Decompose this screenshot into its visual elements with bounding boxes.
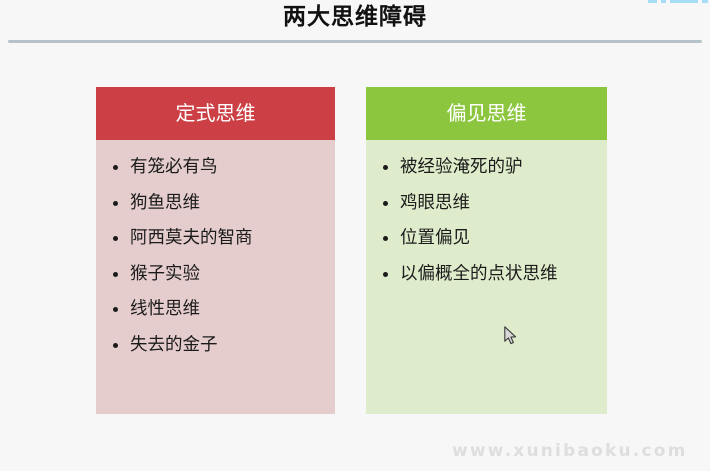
list-item: 猴子实验 bbox=[110, 261, 325, 288]
site-watermark: www.xunibaoku.com bbox=[452, 441, 688, 461]
list-item: 失去的金子 bbox=[110, 332, 325, 359]
list-item: 以偏概全的点状思维 bbox=[380, 261, 597, 288]
title-divider bbox=[8, 40, 702, 43]
list-item: 位置偏见 bbox=[380, 225, 597, 252]
page-title: 两大思维障碍 bbox=[0, 0, 710, 38]
card-header-bias-mindset: 偏见思维 bbox=[366, 87, 607, 140]
bullet-list-bias-mindset: 被经验淹死的驴 鸡眼思维 位置偏见 以偏概全的点状思维 bbox=[380, 154, 597, 287]
card-header-fixed-mindset: 定式思维 bbox=[96, 87, 335, 140]
list-item: 被经验淹死的驴 bbox=[380, 154, 597, 181]
list-item: 阿西莫夫的智商 bbox=[110, 225, 325, 252]
list-item: 鸡眼思维 bbox=[380, 190, 597, 217]
list-item: 线性思维 bbox=[110, 296, 325, 323]
list-item: 狗鱼思维 bbox=[110, 190, 325, 217]
card-fixed-mindset: 定式思维 有笼必有鸟 狗鱼思维 阿西莫夫的智商 猴子实验 线性思维 失去的金子 bbox=[96, 87, 335, 414]
bullet-list-fixed-mindset: 有笼必有鸟 狗鱼思维 阿西莫夫的智商 猴子实验 线性思维 失去的金子 bbox=[110, 154, 325, 359]
card-bias-mindset: 偏见思维 被经验淹死的驴 鸡眼思维 位置偏见 以偏概全的点状思维 bbox=[366, 87, 607, 414]
card-body-bias-mindset: 被经验淹死的驴 鸡眼思维 位置偏见 以偏概全的点状思维 bbox=[366, 140, 607, 414]
card-body-fixed-mindset: 有笼必有鸟 狗鱼思维 阿西莫夫的智商 猴子实验 线性思维 失去的金子 bbox=[96, 140, 335, 414]
list-item: 有笼必有鸟 bbox=[110, 154, 325, 181]
